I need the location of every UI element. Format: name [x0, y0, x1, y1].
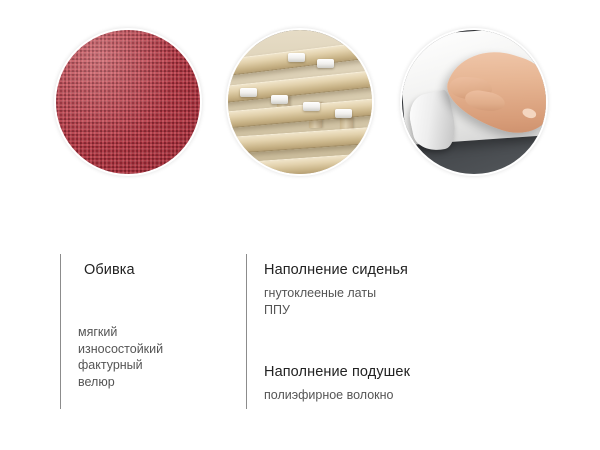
seat-slats-photo[interactable]	[228, 30, 372, 174]
slat-holder	[317, 59, 334, 68]
slat-holder	[335, 109, 352, 118]
spec-column-filling: Наполнение сиденья гнутоклееные латы ППУ…	[246, 245, 546, 415]
slat-holder	[271, 95, 288, 104]
spec-group-seat-filling: Наполнение сиденья гнутоклееные латы ППУ	[264, 245, 546, 318]
specifications: Обивка мягкий износостойкий фактурный ве…	[0, 245, 600, 450]
fingernail	[521, 107, 537, 120]
slat-holder	[288, 53, 305, 62]
spec-text-seat-filling: гнутоклееные латы ППУ	[264, 278, 546, 318]
cushion-foam-photo[interactable]	[402, 30, 546, 174]
spec-column-upholstery: Обивка мягкий износостойкий фактурный ве…	[60, 245, 230, 415]
spec-text-upholstery: мягкий износостойкий фактурный велюр	[78, 278, 230, 390]
spec-column-body: Наполнение сиденья гнутоклееные латы ППУ…	[246, 245, 546, 404]
spec-text-cushion-filling: полиэфирное волокно	[264, 380, 546, 404]
spec-heading-upholstery: Обивка	[78, 245, 230, 278]
slat-holder	[303, 102, 320, 111]
fabric-highlight	[56, 30, 200, 174]
finger	[464, 89, 507, 115]
spec-heading-seat-filling: Наполнение сиденья	[264, 245, 546, 278]
slat-holder	[240, 88, 257, 97]
spec-heading-cushion-filling: Наполнение подушек	[264, 347, 546, 380]
material-gallery	[0, 0, 600, 210]
spec-column-body: Обивка мягкий износостойкий фактурный ве…	[60, 245, 230, 390]
spec-group-cushion-filling: Наполнение подушек полиэфирное волокно	[264, 318, 546, 404]
upholstery-fabric-photo[interactable]	[56, 30, 200, 174]
